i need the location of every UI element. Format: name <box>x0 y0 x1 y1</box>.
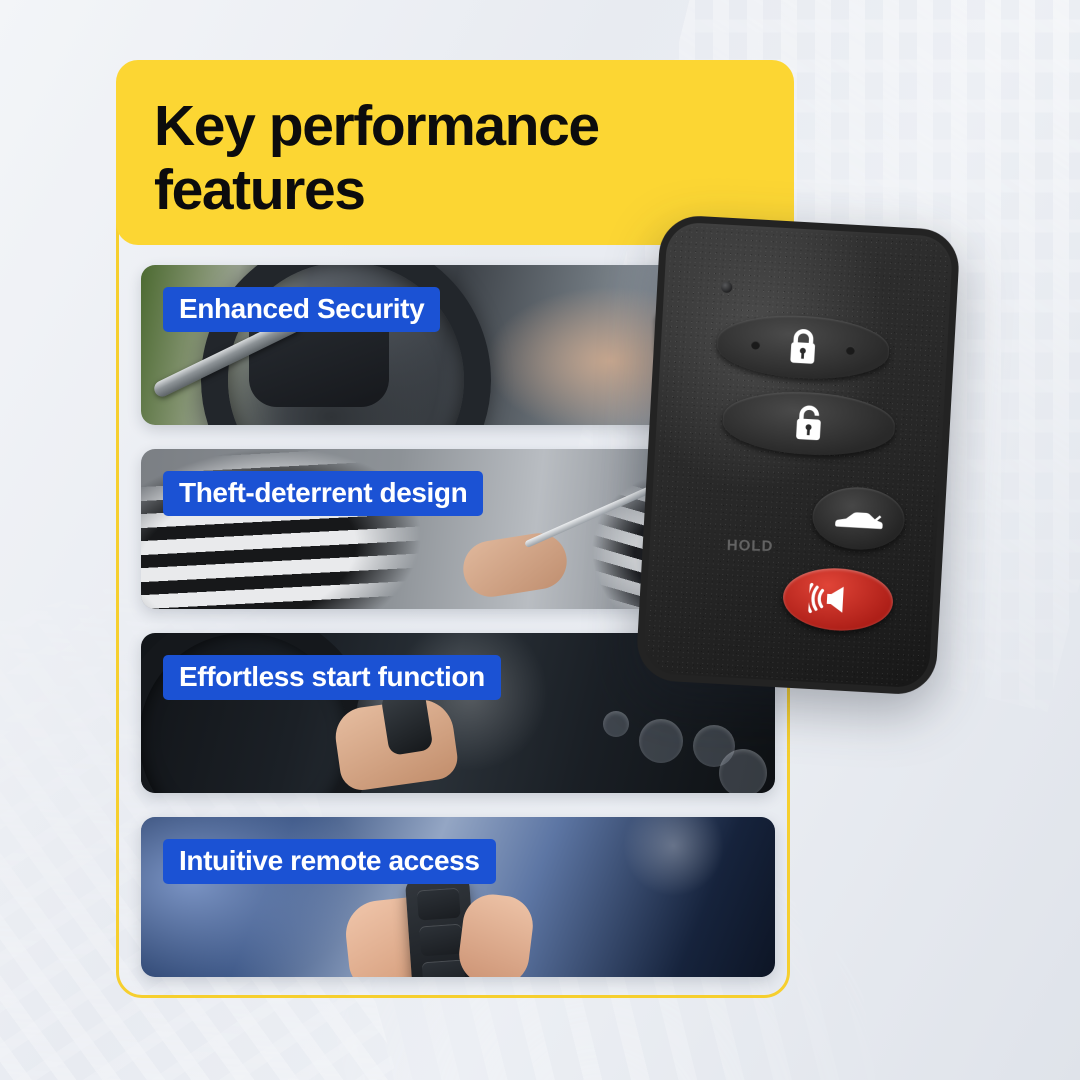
feature-badge-label: Effortless start function <box>163 655 501 700</box>
dashboard-control-dial <box>719 749 767 793</box>
page-title: Key performance features <box>154 94 794 223</box>
padlock-closed-icon <box>785 326 821 368</box>
fob-trunk-button-shape <box>419 924 463 957</box>
feature-badge-label: Intuitive remote access <box>163 839 496 884</box>
hold-label: HOLD <box>727 537 774 555</box>
dashboard-control-nav <box>639 719 683 763</box>
infographic-canvas: Key performance features Enhanced Securi… <box>0 0 1080 1080</box>
feature-card-intuitive-remote[interactable]: Intuitive remote access <box>141 817 775 977</box>
feature-badge-label: Enhanced Security <box>163 287 440 332</box>
fob-lock-button-shape <box>417 888 461 921</box>
alarm-speaker-icon <box>808 581 868 618</box>
feature-badge-label: Theft-deterrent design <box>163 471 483 516</box>
padlock-open-icon <box>791 403 827 445</box>
lock-button-dot-left <box>751 340 760 349</box>
car-trunk-icon <box>832 502 886 535</box>
smart-key-fob-product: HOLD <box>635 214 961 696</box>
lock-button-dot-right <box>846 345 855 354</box>
dashboard-control-power <box>603 711 629 737</box>
fob-unlock-button-shape <box>422 959 466 977</box>
